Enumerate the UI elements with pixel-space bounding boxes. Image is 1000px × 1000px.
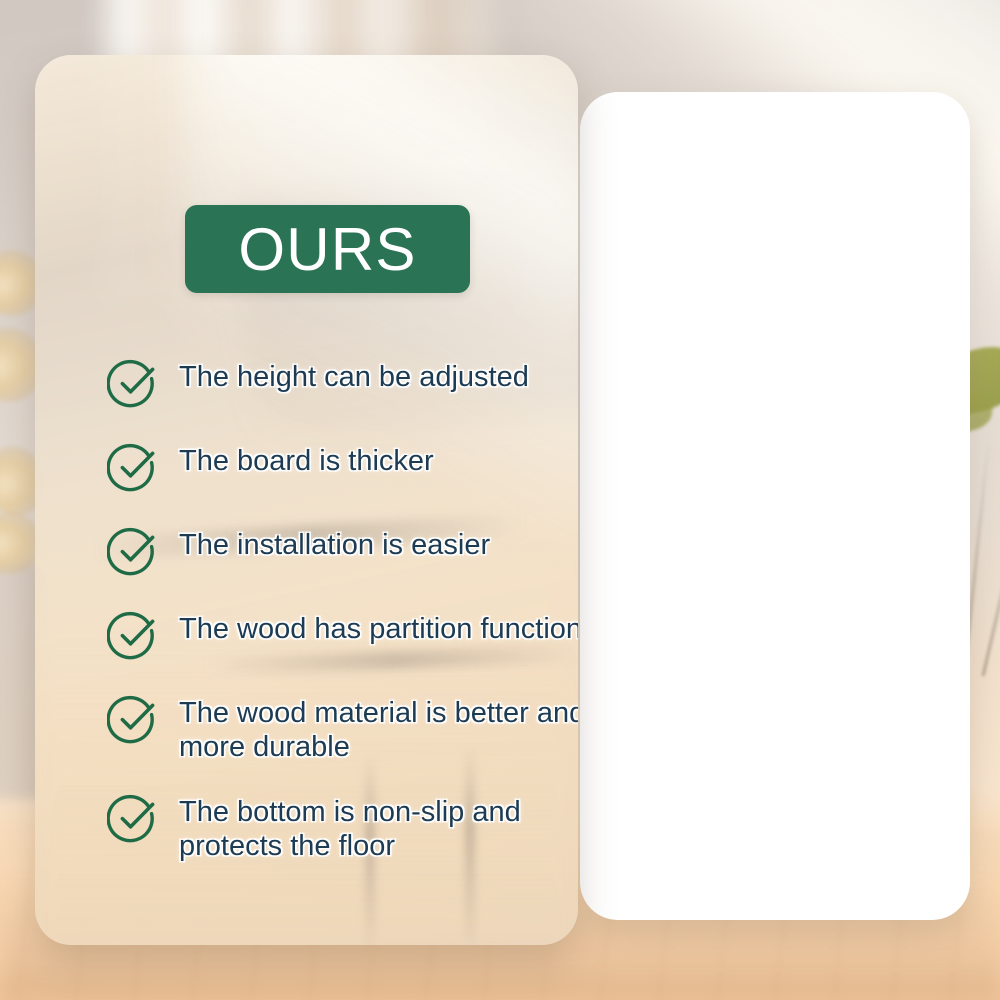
list-item-label: The board is thicker <box>179 439 578 479</box>
check-circle-icon <box>107 792 159 844</box>
list-item: The wood material is better and more dur… <box>107 691 578 764</box>
check-circle-icon <box>107 693 159 745</box>
list-item-label: The installation is easier <box>179 523 578 563</box>
list-item-label: The wood material is better and more dur… <box>179 691 578 764</box>
check-circle-icon <box>107 441 159 493</box>
ours-badge-label: OURS <box>238 215 416 284</box>
list-item-label: The wood has partition function <box>179 607 578 647</box>
list-item: The board is thicker <box>107 439 578 493</box>
list-item: The height can be adjusted <box>107 355 578 409</box>
other-card: OTHER Fixed height <box>580 92 970 920</box>
list-item: The installation is easier <box>107 523 578 577</box>
check-circle-icon <box>107 609 159 661</box>
comparison-infographic: OTHER Fixed height <box>0 0 1000 1000</box>
list-item-label: The height can be adjusted <box>179 355 578 395</box>
list-item-label: The bottom is non-slip and protects the … <box>179 790 578 863</box>
ours-badge: OURS <box>185 205 470 293</box>
check-circle-icon <box>107 525 159 577</box>
ours-feature-list: The height can be adjusted The board is … <box>107 355 578 882</box>
ours-card: OURS The height can be adjusted <box>35 55 578 945</box>
list-item: The wood has partition function <box>107 607 578 661</box>
list-item: The bottom is non-slip and protects the … <box>107 790 578 863</box>
check-circle-icon <box>107 357 159 409</box>
